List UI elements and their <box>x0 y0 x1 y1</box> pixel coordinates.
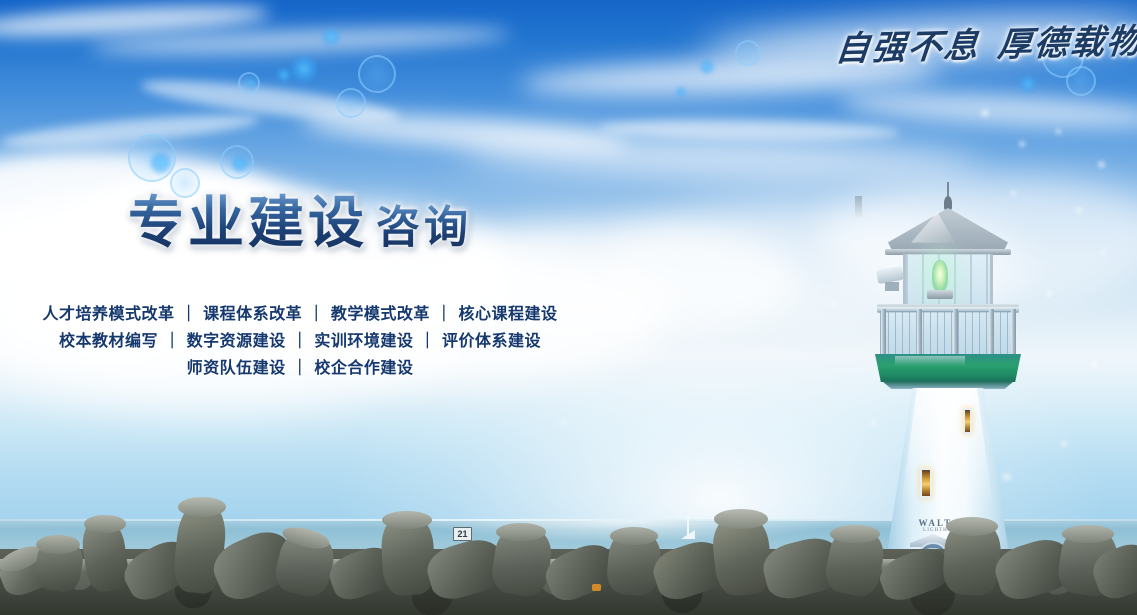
subtitle-line-1: 人才培养模式改革 ｜ 课程体系改革 ｜ 教学模式改革 ｜ 核心课程建设 <box>0 300 600 324</box>
page-title-secondary: 咨询 <box>376 202 472 253</box>
lighthouse-lamp-base <box>927 290 953 299</box>
tetrapod-cap <box>36 535 80 554</box>
subtitle-line-3: 师资队伍建设 ｜ 校企合作建设 <box>0 354 600 378</box>
tetrapod-cap <box>830 525 880 543</box>
railing-post <box>917 309 922 357</box>
banner-hero: WALTON LIGHTHOUSE 21 <box>0 0 1137 615</box>
green-band-highlight <box>895 356 965 366</box>
lighthouse-lamp <box>932 260 948 292</box>
tetrapod-cap <box>84 515 126 533</box>
lighthouse-window-upper <box>963 408 972 434</box>
calligraphy-motto: 自强不息厚德载物 <box>833 14 1109 75</box>
tetrapod-cap <box>382 511 432 529</box>
gallery-underside <box>882 381 1014 389</box>
page-title-primary: 专业建设 <box>128 191 368 256</box>
tetrapod-cap <box>496 523 546 541</box>
tetrapod-cap <box>610 527 658 545</box>
railing-cap <box>877 307 1019 311</box>
railing-post <box>953 309 958 357</box>
lighthouse-window-small <box>855 196 862 218</box>
lighthouse-finial <box>944 196 952 210</box>
headline-group: 专业建设咨询 人才培养模式改革 ｜ 课程体系改革 ｜ 教学模式改革 ｜ 核心课程… <box>0 0 620 400</box>
tetrapod-cap <box>178 497 226 517</box>
motto-part-1: 自强不息 <box>834 26 982 70</box>
tetrapod-cap <box>714 509 768 529</box>
railing-bars <box>881 312 1015 354</box>
lighthouse-side-lamp-mount <box>885 282 899 291</box>
debris-marker <box>592 584 601 591</box>
railing-post <box>881 309 886 357</box>
railing-post <box>1011 309 1016 357</box>
lighthouse-roof <box>888 208 1008 252</box>
lighthouse-gallery-railing <box>880 311 1016 355</box>
motto-part-2: 厚德载物 <box>996 22 1137 66</box>
page-title: 专业建设咨询 <box>128 196 472 252</box>
tetrapod-cap <box>946 517 998 536</box>
railing-post <box>989 309 994 357</box>
tetrapod-number-plaque: 21 <box>453 527 472 541</box>
subtitle-line-2: 校本教材编写 ｜ 数字资源建设 ｜ 实训环境建设 ｜ 评价体系建设 <box>0 327 600 351</box>
breakwater-tetrapods: 21 <box>0 485 1137 615</box>
tetrapod-cap <box>1062 525 1114 543</box>
